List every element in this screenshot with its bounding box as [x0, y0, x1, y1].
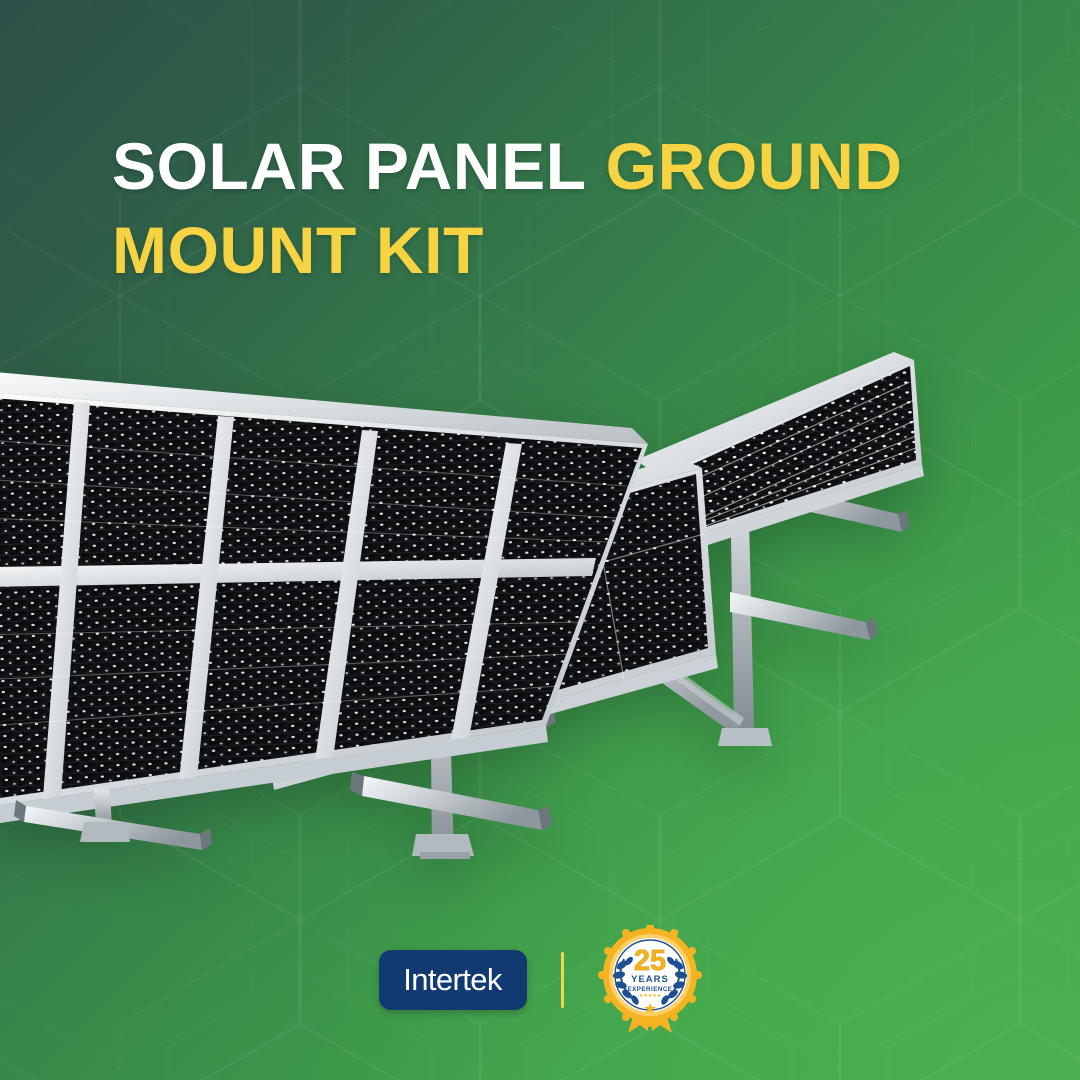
badge-divider	[561, 952, 564, 1008]
page-title: SOLAR PANEL GROUND MOUNT KIT	[112, 124, 952, 292]
25-years-experience-badge[interactable]: 25 YEARS EXPERIENCE ★★★★★	[598, 925, 702, 1035]
poster-canvas: SOLAR PANEL GROUND MOUNT KIT	[0, 0, 1080, 1080]
badge-number: 25	[633, 945, 665, 977]
headline-ground: GROUND	[606, 129, 903, 203]
footer-badges: Intertek	[0, 924, 1080, 1036]
badge-stars: ★★★★★	[638, 993, 661, 999]
intertek-logo-text: Intertek	[403, 962, 502, 998]
badge-years-label: YEARS	[631, 974, 669, 985]
headline-line-1: SOLAR PANEL GROUND	[112, 124, 952, 208]
badge-experience-label: EXPERIENCE	[627, 986, 672, 993]
headline-solar-panel: SOLAR PANEL	[112, 129, 587, 203]
headline-line-2: MOUNT KIT	[112, 208, 952, 292]
solar-panel-main-array	[0, 366, 648, 834]
product-image-solar-ground-mount	[0, 336, 946, 876]
intertek-logo[interactable]: Intertek	[379, 950, 527, 1010]
